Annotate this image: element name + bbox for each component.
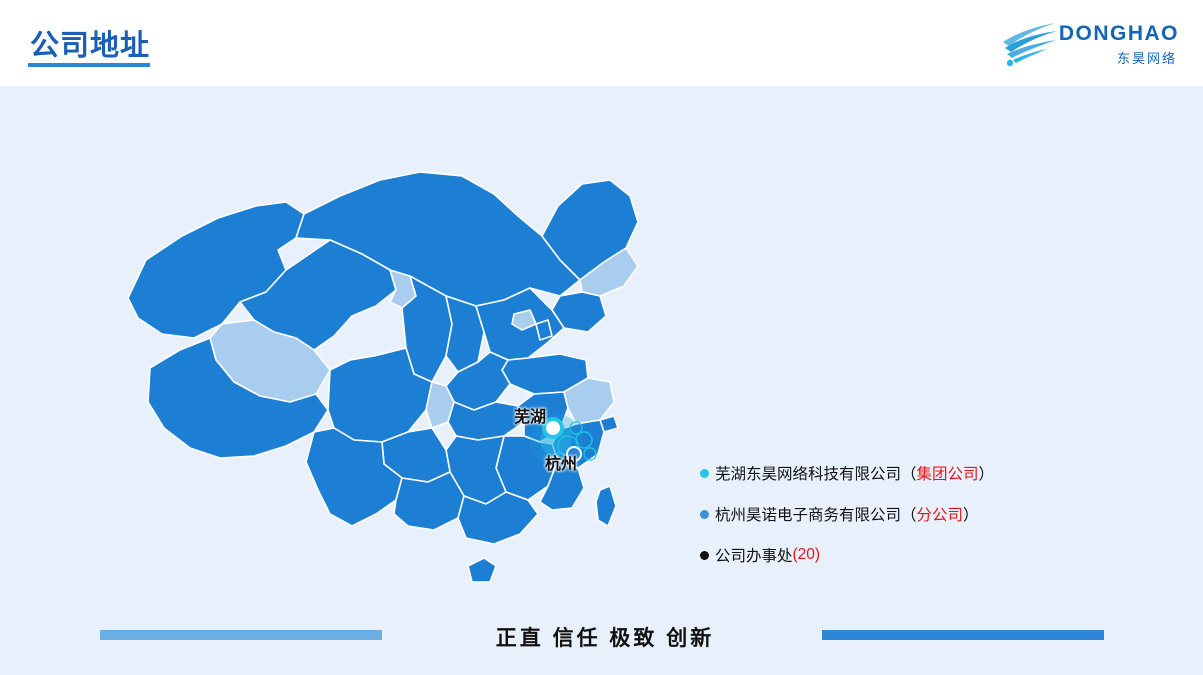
- logo-text-en: DONGHAO: [1059, 22, 1179, 46]
- province-hubei: [448, 402, 524, 440]
- legend-emphasis: 分公司: [917, 503, 964, 525]
- legend-dot-icon: [700, 551, 709, 560]
- footer-slogan: 正直 信任 极致 创新: [440, 622, 770, 652]
- slide-header: 公司地址 DONGHAO 东昊网络: [0, 0, 1203, 86]
- legend-item-offices: 公司办事处 (20): [700, 544, 1170, 566]
- province-hainan: [468, 558, 496, 582]
- legend-text: 芜湖东昊网络科技有限公司（: [715, 462, 917, 484]
- legend-suffix: ）: [963, 503, 979, 525]
- map-label-hangzhou: 杭州: [545, 450, 577, 474]
- page-title: 公司地址: [30, 22, 150, 64]
- legend-dot-icon: [700, 510, 709, 519]
- legend-dot-icon: [700, 469, 709, 478]
- legend-suffix: ）: [979, 462, 995, 484]
- province-guangdong: [458, 492, 538, 544]
- map-label-wuhu: 芜湖: [514, 403, 546, 427]
- legend-emphasis: 集团公司: [917, 462, 979, 484]
- province-guangxi: [394, 472, 464, 530]
- legend-item-branch: 杭州昊诺电子商务有限公司（ 分公司 ）: [700, 503, 1170, 525]
- legend-emphasis: (20): [793, 546, 821, 564]
- legend-text: 公司办事处: [715, 544, 793, 566]
- china-map-svg: [90, 110, 710, 600]
- province-taiwan: [596, 486, 616, 526]
- footer-bar-right: [822, 630, 1104, 640]
- marker-wuhu: [544, 419, 562, 437]
- title-underline: [28, 63, 150, 67]
- china-map: 芜湖 杭州: [90, 110, 710, 600]
- company-logo: DONGHAO 东昊网络: [1001, 12, 1181, 72]
- slide-root: 公司地址 DONGHAO 东昊网络: [0, 0, 1203, 675]
- logo-text-cn: 东昊网络: [1117, 48, 1177, 67]
- legend-item-headquarters: 芜湖东昊网络科技有限公司（ 集团公司 ）: [700, 462, 1170, 484]
- footer-bar-left: [100, 630, 382, 640]
- logo-mark-icon: [1001, 18, 1063, 68]
- legend-text: 杭州昊诺电子商务有限公司（: [715, 503, 917, 525]
- legend-list: 芜湖东昊网络科技有限公司（ 集团公司 ） 杭州昊诺电子商务有限公司（ 分公司 ）…: [700, 462, 1170, 585]
